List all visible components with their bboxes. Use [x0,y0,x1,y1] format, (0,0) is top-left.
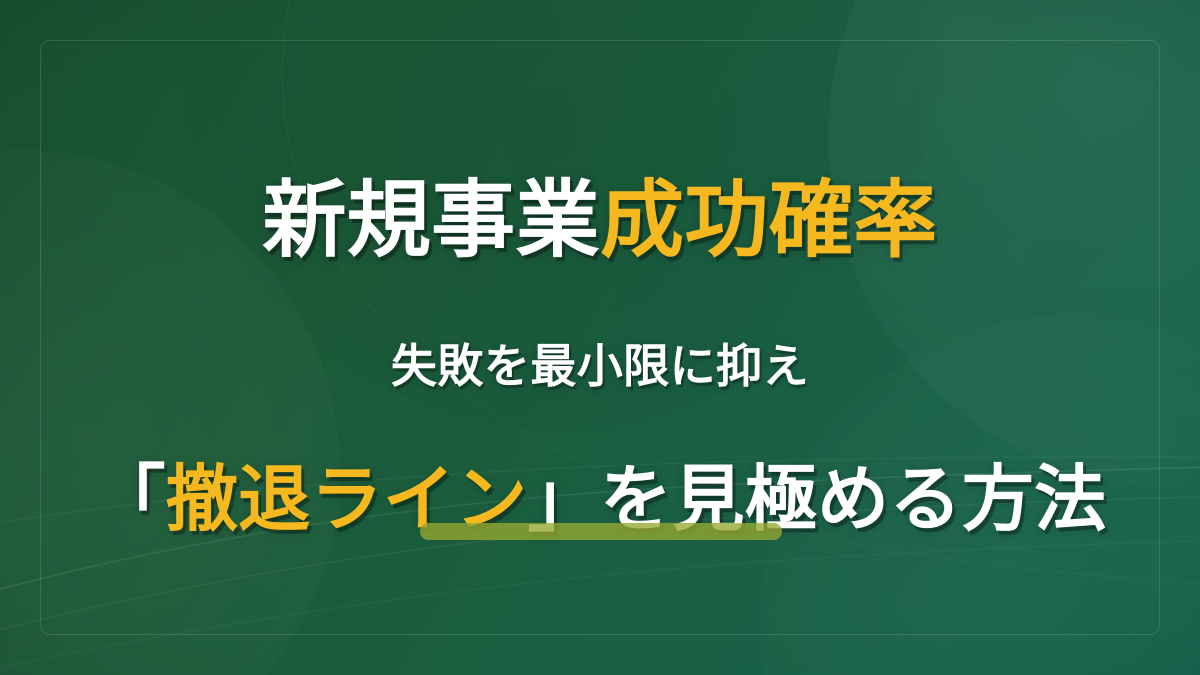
headline: 新規事業成功確率 [0,176,1200,264]
headline-white-segment: 新規事業 [262,171,600,269]
emphasis-underline-bar [420,523,782,540]
text-stack: 新規事業成功確率 失敗を最小限に抑え 「撤退ライン」を見極める方法 [0,0,1200,675]
title-slide: 新規事業成功確率 失敗を最小限に抑え 「撤退ライン」を見極める方法 [0,0,1200,675]
open-bracket: 「 [93,457,165,541]
headline-gold-segment: 成功確率 [600,171,938,269]
subtitle: 失敗を最小限に抑え [0,330,1200,396]
